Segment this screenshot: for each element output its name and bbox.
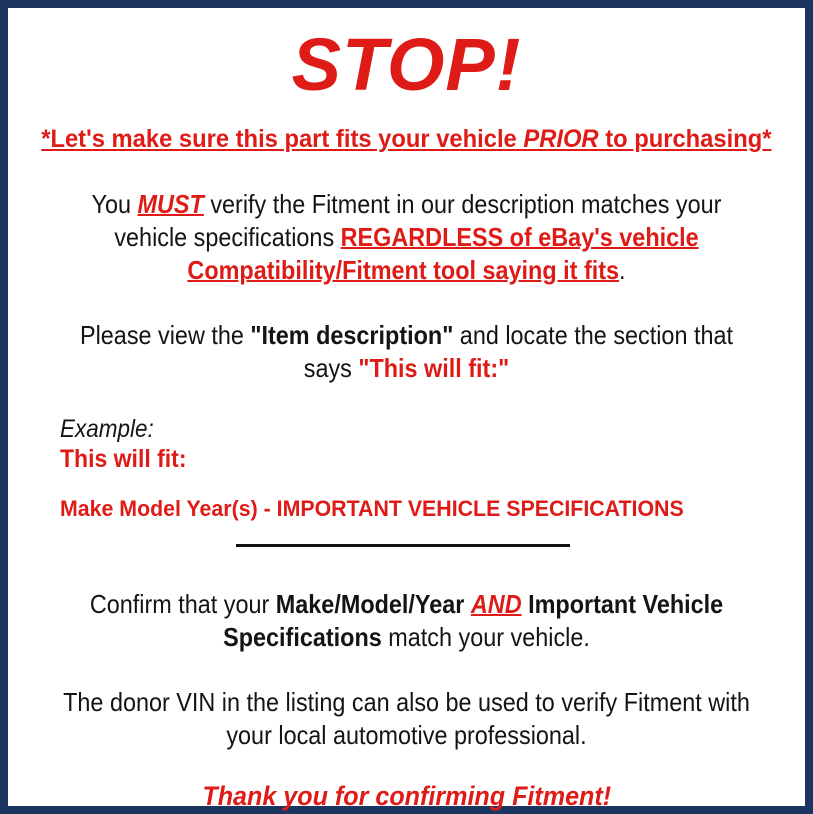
confirm-emphasis-and: AND bbox=[471, 589, 522, 619]
section-divider-wrap bbox=[22, 522, 791, 566]
example-label-text: Example: bbox=[60, 415, 154, 444]
verify-emphasis-must: MUST bbox=[138, 189, 204, 219]
subtitle-text-before: *Let's make sure this part fits your veh… bbox=[41, 125, 523, 153]
example-fit-heading: This will fit: bbox=[60, 444, 791, 475]
vin-paragraph-text: The donor VIN in the listing can also be… bbox=[60, 686, 752, 752]
subtitle-emphasis-prior: PRIOR bbox=[524, 125, 599, 153]
verify-text-part3: . bbox=[619, 255, 626, 285]
verify-fitment-paragraph: You MUST verify the Fitment in our descr… bbox=[22, 154, 791, 287]
example-spec-line: Make Model Year(s) - IMPORTANT VEHICLE S… bbox=[60, 475, 791, 522]
confirm-text-part1: Confirm that your bbox=[90, 589, 276, 619]
confirm-text-part2: match your vehicle. bbox=[382, 622, 590, 652]
example-spec-line-text: Make Model Year(s) - IMPORTANT VEHICLE S… bbox=[60, 495, 684, 522]
section-divider bbox=[236, 544, 570, 547]
subtitle-text-after: to purchasing* bbox=[599, 125, 772, 153]
confirm-emphasis-make-model-year: Make/Model/Year bbox=[276, 589, 465, 619]
locate-emphasis-item-description: "Item description" bbox=[250, 320, 453, 350]
confirm-paragraph: Confirm that your Make/Model/Year AND Im… bbox=[22, 566, 791, 654]
page-title: STOP! bbox=[22, 8, 791, 108]
locate-section-paragraph: Please view the "Item description" and l… bbox=[22, 287, 791, 385]
example-label: Example: bbox=[60, 415, 791, 444]
subtitle-banner: *Let's make sure this part fits your veh… bbox=[22, 108, 791, 154]
vin-paragraph: The donor VIN in the listing can also be… bbox=[22, 654, 791, 752]
locate-text-part1: Please view the bbox=[80, 320, 250, 350]
example-fit-heading-text: This will fit: bbox=[60, 444, 187, 475]
locate-emphasis-this-will-fit: "This will fit:" bbox=[358, 353, 509, 383]
example-block: Example: This will fit: Make Model Year(… bbox=[22, 385, 791, 522]
fitment-notice-card: STOP! *Let's make sure this part fits yo… bbox=[0, 0, 813, 814]
verify-text-part1: You bbox=[92, 189, 138, 219]
thank-you-message: Thank you for confirming Fitment! bbox=[22, 752, 791, 813]
thank-you-text: Thank you for confirming Fitment! bbox=[202, 780, 611, 813]
